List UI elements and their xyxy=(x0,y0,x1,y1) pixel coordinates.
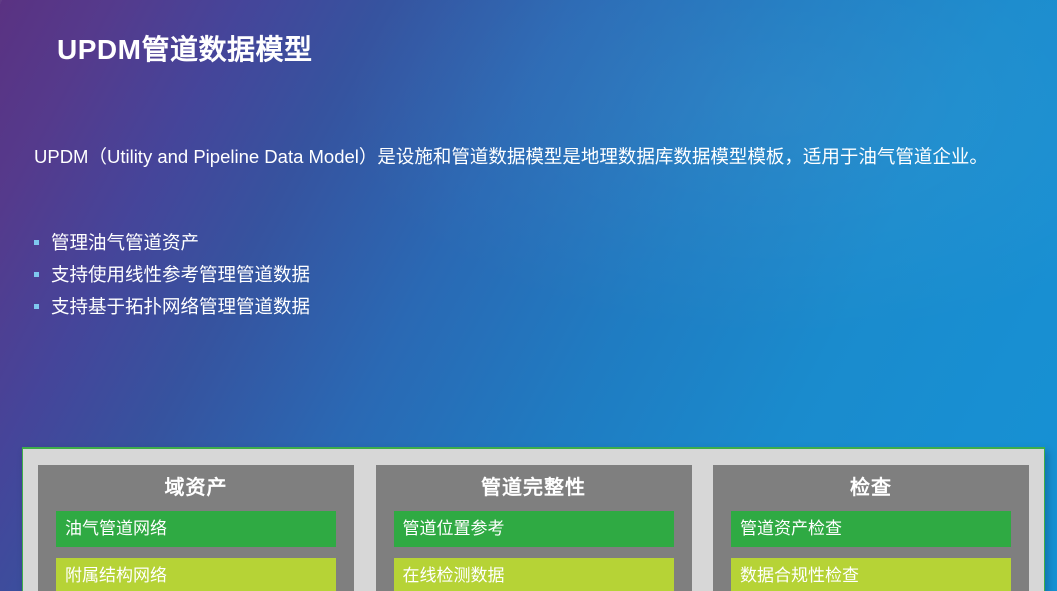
bullet-list: 管理油气管道资产 支持使用线性参考管理管道数据 支持基于拓扑网络管理管道数据 xyxy=(34,226,674,322)
diagram-item[interactable]: 数据合规性检查 xyxy=(731,558,1011,591)
diagram-column-domain-assets: 域资产 油气管道网络 附属结构网络 阴极保护网络 xyxy=(38,465,354,591)
bullet-dot-icon xyxy=(34,272,39,277)
column-title: 管道完整性 xyxy=(394,465,674,511)
bullet-label: 管理油气管道资产 xyxy=(51,229,199,255)
list-item: 支持使用线性参考管理管道数据 xyxy=(34,258,674,290)
bullet-label: 支持使用线性参考管理管道数据 xyxy=(51,261,310,287)
diagram-column-inspection: 检查 管道资产检查 数据合规性检查 xyxy=(713,465,1029,591)
diagram-item[interactable]: 管道资产检查 xyxy=(731,511,1011,547)
diagram-item[interactable]: 在线检测数据 xyxy=(394,558,674,591)
diagram-columns: 域资产 油气管道网络 附属结构网络 阴极保护网络 管道完整性 管道位置参考 在线… xyxy=(38,465,1029,591)
diagram-item[interactable]: 附属结构网络 xyxy=(56,558,336,591)
diagram-column-pipeline-integrity: 管道完整性 管道位置参考 在线检测数据 完整性合规性数据 xyxy=(376,465,692,591)
column-title: 域资产 xyxy=(56,465,336,511)
intro-paragraph: UPDM（Utility and Pipeline Data Model）是设施… xyxy=(34,143,1000,171)
diagram-item[interactable]: 油气管道网络 xyxy=(56,511,336,547)
list-item: 管理油气管道资产 xyxy=(34,226,674,258)
diagram-panel: 域资产 油气管道网络 附属结构网络 阴极保护网络 管道完整性 管道位置参考 在线… xyxy=(22,447,1045,591)
bullet-dot-icon xyxy=(34,304,39,309)
bullet-dot-icon xyxy=(34,240,39,245)
column-title: 检查 xyxy=(731,465,1011,511)
bullet-label: 支持基于拓扑网络管理管道数据 xyxy=(51,293,310,319)
slide-canvas: UPDM管道数据模型 UPDM（Utility and Pipeline Dat… xyxy=(0,0,1057,591)
page-title: UPDM管道数据模型 xyxy=(57,28,1057,68)
list-item: 支持基于拓扑网络管理管道数据 xyxy=(34,290,674,322)
diagram-item[interactable]: 管道位置参考 xyxy=(394,511,674,547)
